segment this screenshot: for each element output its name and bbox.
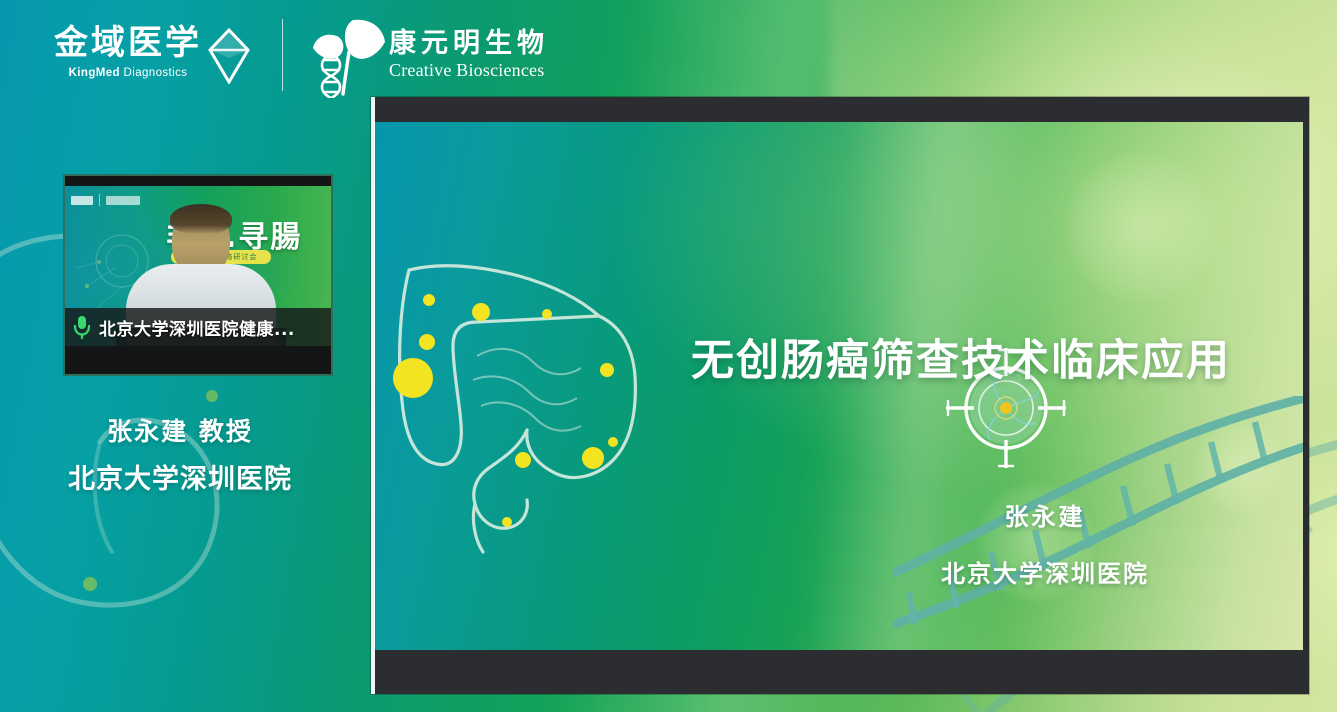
share-letterbox-bottom	[375, 650, 1309, 694]
share-letterbox-top	[375, 97, 1309, 122]
webinar-screen: 金域医学 KingMed Diagnostics	[0, 0, 1337, 712]
shared-screen-frame[interactable]: 无创肠癌筛查技术临床应用 张永建 北京大学深圳医院	[371, 97, 1309, 694]
person-hair	[170, 204, 232, 234]
presentation-slide: 无创肠癌筛查技术临床应用 张永建 北京大学深圳医院	[375, 122, 1303, 650]
video-watermark-logo	[71, 194, 140, 206]
video-letterbox-top	[65, 176, 331, 186]
logo-creative-en-name: Creative Biosciences	[389, 60, 549, 81]
logo-kingmed-en-bold: KingMed	[69, 67, 120, 79]
speaker-name-title: 张永建 教授	[0, 412, 360, 448]
leaf-dna-sprout-icon	[309, 12, 387, 98]
slide-presenter-name: 张永建	[895, 497, 1195, 532]
slide-bokeh-3	[1195, 422, 1285, 512]
video-letterbox-bottom	[65, 346, 331, 374]
participant-video-tile[interactable]: 非...寻腸 专题学术网络研讨会 北京大学深圳医院健康...	[63, 174, 333, 376]
speaker-organization: 北京大学深圳医院	[0, 457, 360, 496]
speaker-caption: 张永建 教授 北京大学深圳医院	[0, 412, 360, 496]
logo-kingmed-cn-name: 金域医学	[54, 26, 202, 62]
slide-presenter-block: 张永建 北京大学深圳医院	[895, 497, 1195, 589]
video-watermark-block-1	[71, 196, 93, 205]
video-name-bar: 北京大学深圳医院健康...	[65, 308, 331, 346]
microphone-icon[interactable]	[71, 314, 93, 340]
hexagon-diamond-icon	[206, 28, 252, 84]
logo-kingmed-en-name: KingMed Diagnostics	[69, 67, 188, 79]
slide-colon-illustration	[385, 252, 705, 582]
header-logo-bar: 金域医学 KingMed Diagnostics	[54, 12, 549, 98]
video-watermark-block-2	[106, 196, 140, 205]
slide-title: 无创肠癌筛查技术临床应用	[691, 326, 1231, 388]
participant-name-label: 北京大学深圳医院健康...	[99, 315, 295, 340]
slide-bokeh-1	[1065, 152, 1215, 302]
slide-presenter-org: 北京大学深圳医院	[895, 554, 1195, 589]
logo-kingmed: 金域医学 KingMed Diagnostics	[54, 26, 252, 84]
logo-creative-text: 康元明生物 Creative Biosciences	[389, 29, 549, 81]
logo-divider	[282, 19, 283, 91]
logo-creative-biosciences: 康元明生物 Creative Biosciences	[309, 12, 549, 98]
logo-kingmed-en-rest: Diagnostics	[120, 67, 187, 79]
logo-creative-cn-name: 康元明生物	[389, 29, 549, 59]
logo-kingmed-text: 金域医学 KingMed Diagnostics	[54, 26, 202, 79]
video-watermark-divider	[99, 194, 100, 206]
